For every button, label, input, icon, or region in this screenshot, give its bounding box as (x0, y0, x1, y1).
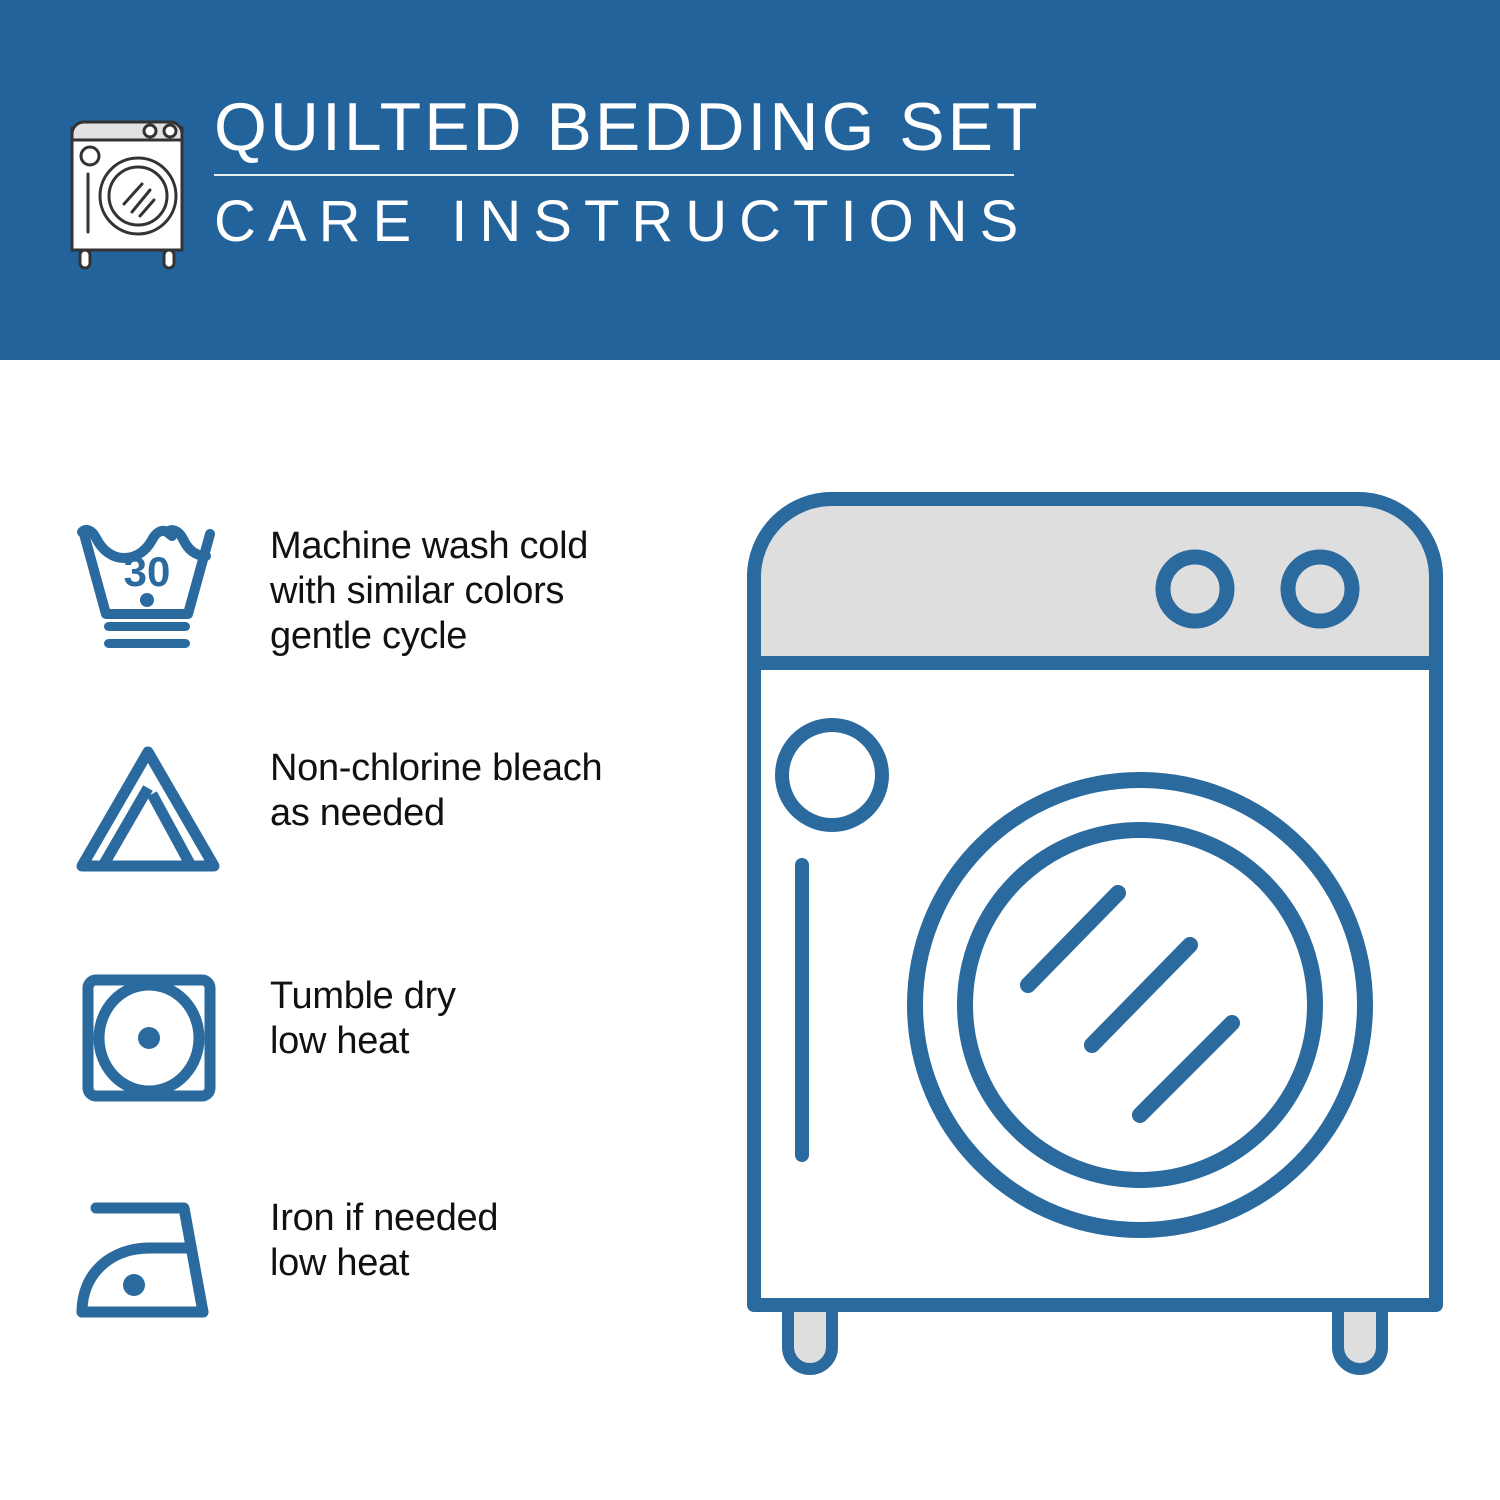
care-item-label: Non-chlorine bleach as needed (270, 740, 602, 836)
care-item-bleach: Non-chlorine bleach as needed (72, 740, 712, 880)
iron-low-heat-icon (72, 1190, 242, 1330)
machine-latch-circle (782, 725, 882, 825)
washing-machine-logo-icon (62, 104, 192, 272)
tumble-dry-low-heat-icon (72, 968, 242, 1108)
page-header: QUILTED BEDDING SET CARE INSTRUCTIONS (0, 0, 1500, 360)
care-instructions-page: QUILTED BEDDING SET CARE INSTRUCTIONS 30 (0, 0, 1500, 1500)
front-load-washing-machine-illustration (740, 485, 1450, 1415)
care-item-label: Machine wash cold with similar colors ge… (270, 518, 588, 659)
header-divider (214, 174, 1014, 176)
wash-temperature-label: 30 (124, 548, 171, 595)
care-item-machine-wash: 30 Machine wash cold with similar colors… (72, 518, 712, 659)
page-subtitle: CARE INSTRUCTIONS (214, 186, 1034, 258)
care-item-label: Iron if needed low heat (270, 1190, 498, 1286)
care-item-iron: Iron if needed low heat (72, 1190, 712, 1330)
non-chlorine-bleach-triangle-icon (72, 740, 242, 880)
header-text-block: QUILTED BEDDING SET CARE INSTRUCTIONS (214, 86, 1034, 258)
care-item-label: Tumble dry low heat (270, 968, 456, 1064)
machine-knob-2 (1288, 557, 1352, 621)
care-item-tumble-dry: Tumble dry low heat (72, 968, 712, 1108)
machine-knob-1 (1163, 557, 1227, 621)
wash-tub-30-gentle-icon: 30 (72, 518, 242, 658)
page-title: QUILTED BEDDING SET (214, 86, 1034, 168)
